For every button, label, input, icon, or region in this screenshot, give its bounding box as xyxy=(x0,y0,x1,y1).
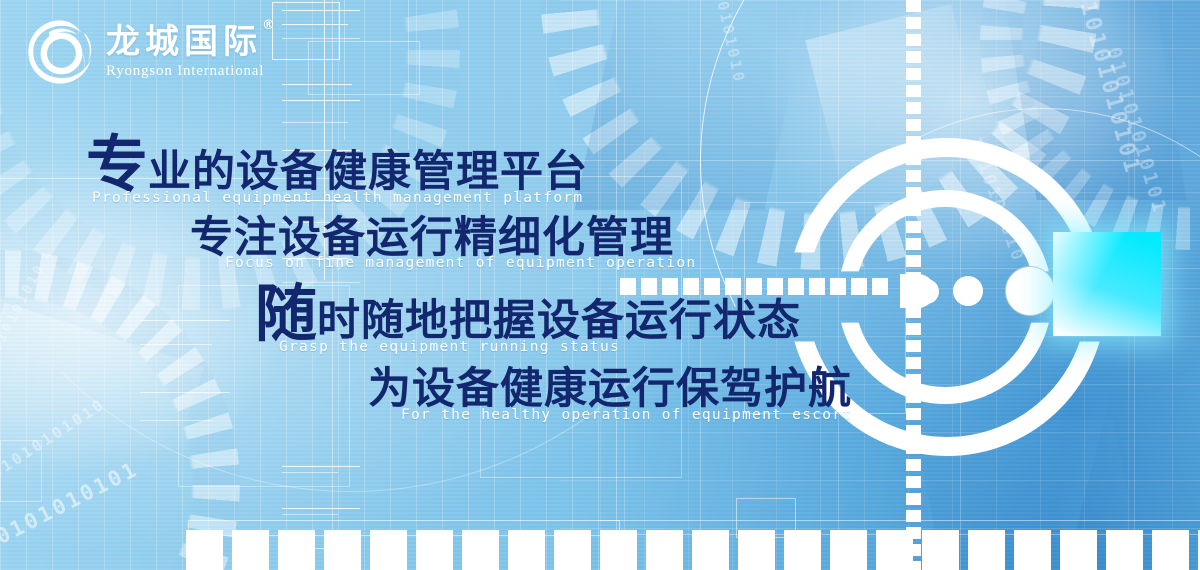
cyan-glow-panel-icon xyxy=(1053,232,1161,336)
headline-cn-1: 专业的设备健康管理平台 xyxy=(86,140,860,195)
ruler-tick xyxy=(282,472,338,473)
target-dot-medium xyxy=(953,276,983,306)
headline-en-4: For the healthy operation of equipment e… xyxy=(368,407,860,423)
target-dot-large xyxy=(1005,266,1055,316)
ruler-tick xyxy=(282,24,348,25)
blueprint-vline xyxy=(344,0,345,140)
ruler-tick xyxy=(282,508,360,509)
brand-name-cn: 龙城国际® xyxy=(106,25,275,59)
target-dot-small xyxy=(914,279,939,304)
headline-row-4: 为设备健康运行保驾护航 For the healthy operation of… xyxy=(0,367,860,423)
ruler-tick xyxy=(282,466,360,467)
headline-block: 专业的设备健康管理平台 Professional equipment healt… xyxy=(0,140,860,429)
headline-row-2: 专注设备运行精细化管理 Focus on fine management of … xyxy=(0,216,860,272)
headline-row-3: 随时随地把握设备运行状态 Grasp the equipment running… xyxy=(0,289,860,355)
headline-cn-3: 随时随地把握设备运行状态 xyxy=(255,289,860,344)
headline-cn-2: 专注设备运行精细化管理 xyxy=(190,216,860,261)
blueprint-hline xyxy=(600,520,1200,521)
blueprint-vline xyxy=(408,0,409,150)
ruler-tick xyxy=(282,84,352,85)
ruler-tick xyxy=(282,514,338,515)
brand-logo[interactable]: 龙城国际® Ryongson International xyxy=(24,16,275,88)
registered-mark: ® xyxy=(262,18,275,33)
blueprint-rect xyxy=(0,440,42,502)
ruler-tick xyxy=(282,38,360,39)
filmstrip-squares-icon xyxy=(186,530,1200,570)
headline-en-1: Professional equipment health management… xyxy=(86,190,860,206)
brand-name-en: Ryongson International xyxy=(106,64,275,79)
headline-cn-4: 为设备健康运行保驾护航 xyxy=(368,367,860,412)
dragon-swirl-logo-icon xyxy=(24,16,96,88)
ruler-tick xyxy=(282,10,360,11)
ruler-tick xyxy=(282,122,348,123)
promo-banner: 01010101010101 0101010101010 010101010 1… xyxy=(0,0,1200,570)
ruler-tick xyxy=(282,100,360,101)
headline-en-2: Focus on fine management of equipment op… xyxy=(190,255,860,271)
headline-row-1: 专业的设备健康管理平台 Professional equipment healt… xyxy=(0,140,860,206)
